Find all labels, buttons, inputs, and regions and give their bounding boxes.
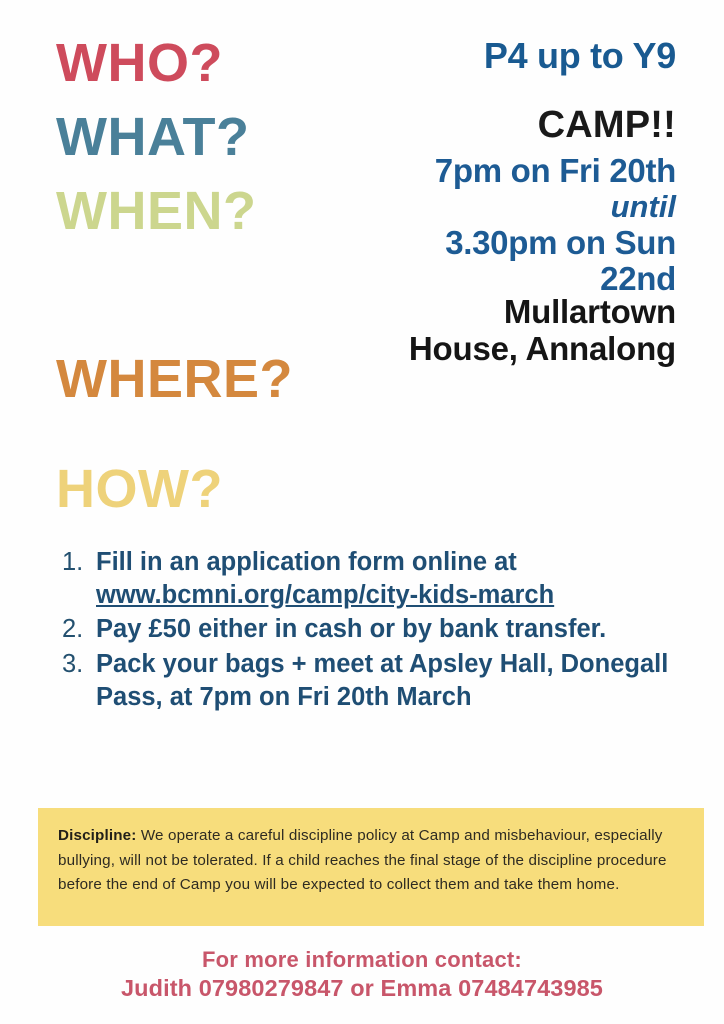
step-text: Pack your bags + meet at Apsley Hall, Do…: [96, 648, 702, 713]
contact-heading: For more information contact:: [0, 946, 724, 974]
list-item: 1. Fill in an application form online at…: [62, 546, 702, 611]
question-when: WHEN?: [56, 184, 256, 238]
answer-venue-line-1: Mullartown: [296, 294, 676, 331]
answer-start-time: 7pm on Fri 20th: [296, 153, 676, 190]
discipline-label: Discipline:: [58, 827, 136, 844]
step-body: Fill in an application form online at ww…: [96, 546, 702, 611]
step-number: 2.: [62, 613, 96, 646]
how-steps-list: 1. Fill in an application form online at…: [62, 546, 702, 715]
step-text: Fill in an application form online at: [96, 548, 517, 576]
step-number: 1.: [62, 546, 96, 579]
question-how: HOW?: [56, 462, 223, 516]
step-text: Pay £50 either in cash or by bank transf…: [96, 613, 702, 646]
question-what: WHAT?: [56, 110, 249, 164]
list-item: 2. Pay £50 either in cash or by bank tra…: [62, 613, 702, 646]
question-who: WHO?: [56, 36, 223, 90]
discipline-body: We operate a careful discipline policy a…: [58, 827, 667, 893]
discipline-notice-box: Discipline: We operate a careful discipl…: [38, 808, 704, 926]
application-form-link[interactable]: www.bcmni.org/camp/city-kids-march: [96, 579, 554, 612]
answer-event-name: CAMP!!: [296, 104, 676, 147]
answers-column: P4 up to Y9 CAMP!! 7pm on Fri 20th until…: [296, 36, 676, 368]
answer-end-time: 3.30pm on Sun: [296, 225, 676, 262]
answer-age-range: P4 up to Y9: [296, 36, 676, 76]
poster-canvas: WHO? WHAT? WHEN? WHERE? HOW? P4 up to Y9…: [0, 0, 724, 1024]
list-item: 3. Pack your bags + meet at Apsley Hall,…: [62, 648, 702, 713]
contact-phone-numbers: Judith 07980279847 or Emma 07484743985: [0, 974, 724, 1003]
answer-until-word: until: [296, 190, 676, 225]
contact-footer: For more information contact: Judith 079…: [0, 946, 724, 1003]
step-number: 3.: [62, 648, 96, 681]
discipline-text: Discipline: We operate a careful discipl…: [58, 824, 684, 898]
question-where: WHERE?: [56, 352, 293, 406]
answer-venue-line-2: House, Annalong: [296, 331, 676, 368]
